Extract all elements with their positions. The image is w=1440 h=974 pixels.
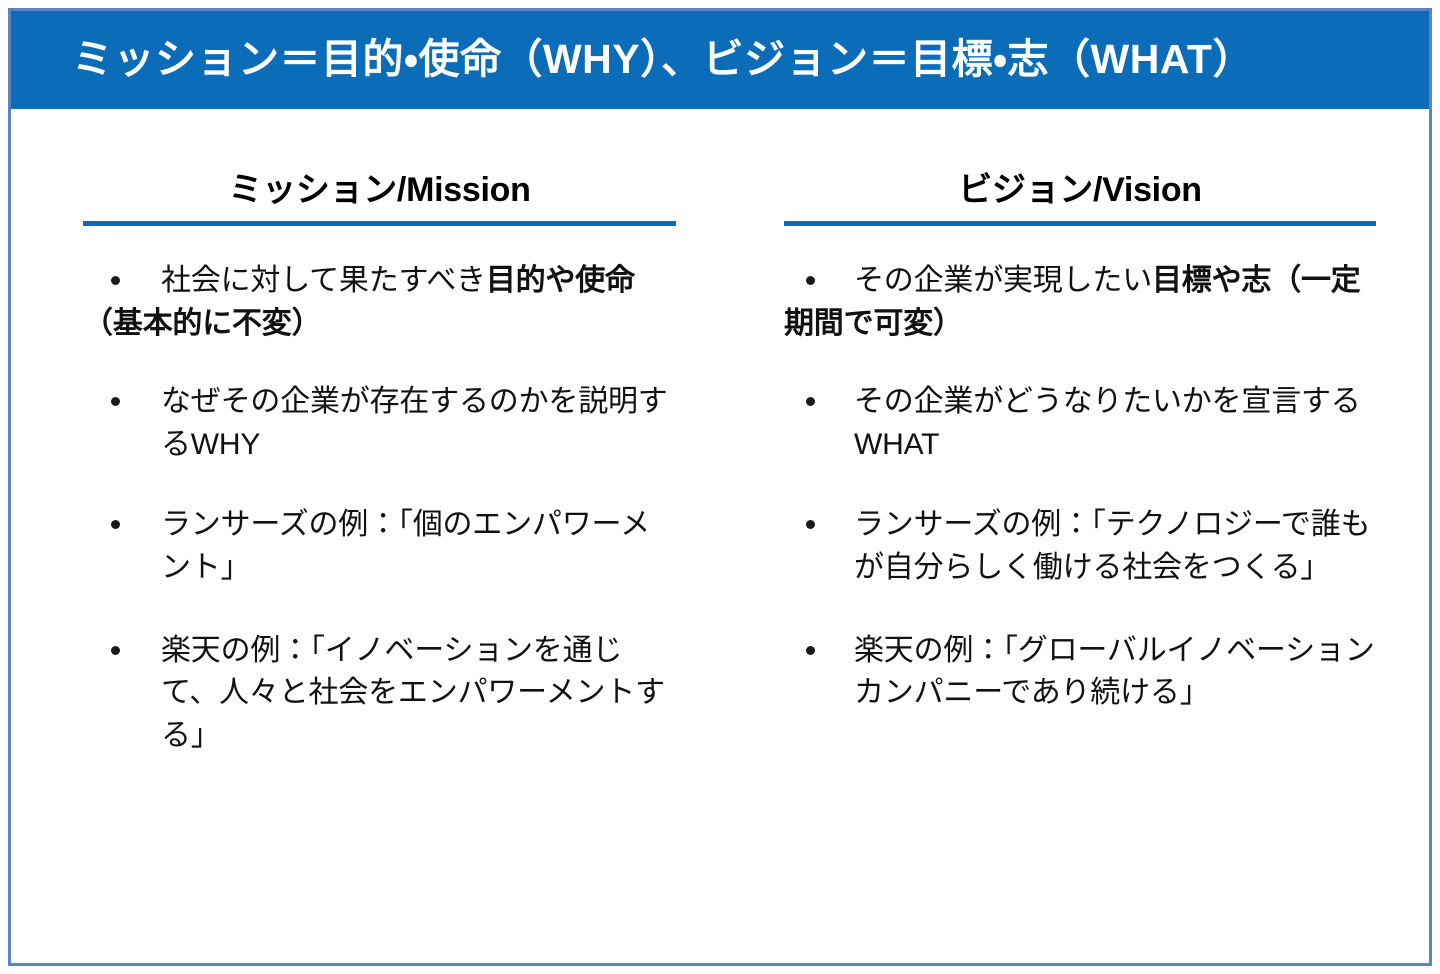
column-rule-mission	[83, 221, 676, 226]
slide-title-bar: ミッション＝目的・使命（WHY）、ビジョン＝目標・志（WHAT）	[10, 10, 1430, 109]
bullet-item: ランサーズの例：「テクノロジーで誰もが自分らしく働ける社会をつくる」	[784, 504, 1376, 589]
bullet-run: ランサーズの例：「個のエンパワーメント」	[161, 508, 650, 584]
bullet-item: ランサーズの例：「個のエンパワーメント」	[83, 504, 676, 589]
column-heading-mission: ミッション/Mission	[83, 171, 676, 210]
column-heading-vision: ビジョン/Vision	[784, 171, 1376, 210]
bullet-dot-icon	[806, 520, 815, 529]
bullet-text: なぜその企業が存在するのかを説明するWHY	[161, 381, 676, 466]
bullet-run: ランサーズの例：「テクノロジーで誰もが自分らしく働ける社会をつくる」	[854, 508, 1370, 584]
bullet-item: 楽天の例：「グローバルイノベーションカンパニーであり続ける」	[784, 630, 1376, 715]
bullet-dot-icon	[806, 646, 815, 655]
bullet-item: 楽天の例：「イノベーションを通じて、人々と社会をエンパワーメントする」	[83, 630, 676, 758]
bullet-dot-icon	[111, 520, 120, 529]
bullet-run: その企業がどうなりたいかを宣言するWHAT	[854, 385, 1361, 461]
bullet-item: なぜその企業が存在するのかを説明するWHY	[83, 381, 676, 466]
bullet-text: ランサーズの例：「テクノロジーで誰もが自分らしく働ける社会をつくる」	[854, 504, 1376, 589]
bullet-run: 社会に対して果たすべき	[161, 264, 486, 297]
bullet-item: その企業がどうなりたいかを宣言するWHAT	[784, 381, 1376, 466]
bullet-item: その企業が実現したい目標や志（一定期間で可変）	[784, 260, 1376, 345]
bullet-text: 社会に対して果たすべき目的や使命（基本的に不変）	[83, 260, 676, 345]
bullet-list-vision: その企業が実現したい目標や志（一定期間で可変）その企業がどうなりたいかを宣言する…	[784, 260, 1376, 715]
bullet-run: なぜその企業が存在するのかを説明するWHY	[161, 385, 668, 461]
columns-container: ミッション/Mission 社会に対して果たすべき目的や使命（基本的に不変）なぜ…	[11, 110, 1429, 963]
bullet-run: その企業が実現したい	[854, 264, 1152, 297]
bullet-text: その企業がどうなりたいかを宣言するWHAT	[854, 381, 1376, 466]
bullet-run: 楽天の例：「イノベーションを通じて、人々と社会をエンパワーメントする」	[161, 634, 665, 752]
column-rule-vision	[784, 221, 1376, 226]
column-mission: ミッション/Mission 社会に対して果たすべき目的や使命（基本的に不変）なぜ…	[11, 110, 720, 757]
bullet-item: 社会に対して果たすべき目的や使命（基本的に不変）	[83, 260, 676, 345]
bullet-list-mission: 社会に対して果たすべき目的や使命（基本的に不変）なぜその企業が存在するのかを説明…	[83, 260, 676, 757]
bullet-text: その企業が実現したい目標や志（一定期間で可変）	[784, 260, 1376, 345]
slide-title: ミッション＝目的・使命（WHY）、ビジョン＝目標・志（WHAT）	[72, 37, 1254, 82]
slide: ミッション＝目的・使命（WHY）、ビジョン＝目標・志（WHAT） ミッション/M…	[0, 0, 1440, 974]
column-vision: ビジョン/Vision その企業が実現したい目標や志（一定期間で可変）その企業が…	[720, 110, 1429, 715]
bullet-dot-icon	[806, 397, 815, 406]
bullet-run: 楽天の例：「グローバルイノベーションカンパニーであり続ける」	[854, 634, 1375, 710]
slide-frame: ミッション＝目的・使命（WHY）、ビジョン＝目標・志（WHAT） ミッション/M…	[8, 8, 1432, 966]
bullet-text: 楽天の例：「イノベーションを通じて、人々と社会をエンパワーメントする」	[161, 630, 676, 758]
bullet-text: 楽天の例：「グローバルイノベーションカンパニーであり続ける」	[854, 630, 1376, 715]
bullet-text: ランサーズの例：「個のエンパワーメント」	[161, 504, 676, 589]
bullet-dot-icon	[111, 397, 120, 406]
bullet-dot-icon	[111, 646, 120, 655]
